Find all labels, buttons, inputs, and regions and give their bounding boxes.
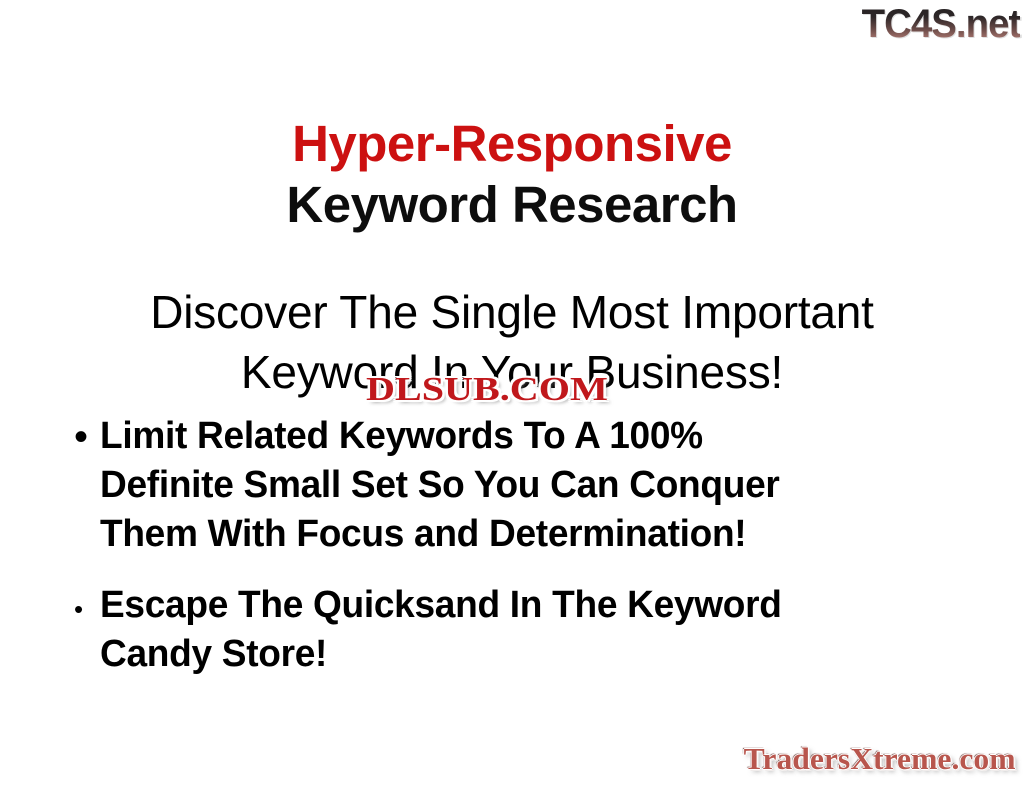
presentation-slide: TC4S.net TC4S.net Hyper-Responsive Keywo…: [0, 0, 1024, 791]
bullet-line: Definite Small Set So You Can Conquer: [100, 461, 933, 510]
bullet-line: Escape The Quicksand In The Keyword: [100, 581, 933, 630]
bullet-dot-icon: •: [74, 581, 100, 637]
bullet-line: Candy Store!: [100, 630, 933, 679]
bullet-dot-icon: •: [74, 412, 100, 462]
list-item: • Escape The Quicksand In The Keyword Ca…: [74, 581, 954, 679]
list-item: • Limit Related Keywords To A 100% Defin…: [74, 412, 954, 559]
slide-title: Hyper-Responsive Keyword Research: [0, 112, 1024, 235]
subtitle-line-1: Discover The Single Most Important: [0, 282, 1024, 342]
dlsub-watermark: DLSUB.COM: [366, 371, 608, 409]
bullet-list: • Limit Related Keywords To A 100% Defin…: [74, 412, 954, 701]
tc4s-logo: TC4S.net: [861, 2, 1020, 46]
title-line-primary: Hyper-Responsive: [0, 112, 1024, 175]
bullet-line: Limit Related Keywords To A 100%: [100, 412, 933, 461]
tradersxtreme-logo: TradersXtreme.com: [744, 741, 1016, 777]
bullet-text: Limit Related Keywords To A 100% Definit…: [100, 412, 933, 559]
bullet-line: Them With Focus and Determination!: [100, 510, 933, 559]
bullet-text: Escape The Quicksand In The Keyword Cand…: [100, 581, 933, 679]
title-line-secondary: Keyword Research: [0, 175, 1024, 235]
